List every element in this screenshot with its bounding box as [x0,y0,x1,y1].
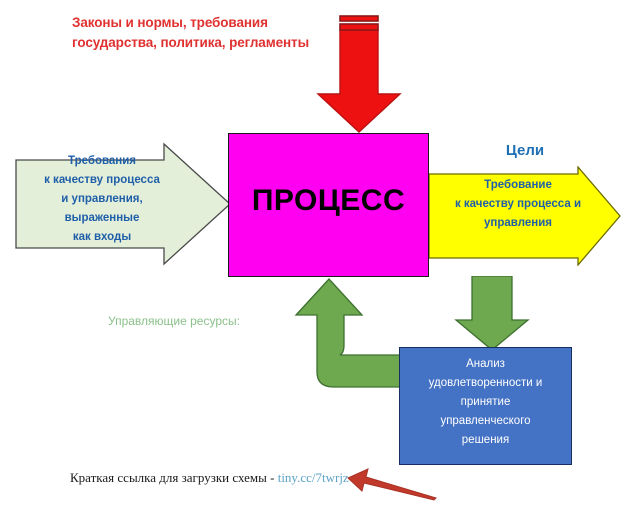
bottom-caption-text: Краткая ссылка для загрузки схемы - [70,470,278,485]
input-arrow-text: Требования к качеству процесса и управле… [22,152,182,247]
arrow-down-icon-green [452,276,532,357]
goals-label: Цели [450,142,600,159]
input-line-5: как входы [22,228,182,247]
analysis-box-text: Анализ удовлетворенности и принятие упра… [399,355,572,450]
arrow-down-icon-red [300,4,420,141]
output-line-1: Требование [434,176,602,195]
output-line-3: управления [434,214,602,233]
resources-label: Управляющие ресурсы: [108,314,240,328]
top-caption: Законы и нормы, требования государства, … [72,13,332,53]
arrow-left-pointer-icon [346,466,438,505]
bottom-caption: Краткая ссылка для загрузки схемы - tiny… [70,470,349,486]
input-line-2: к качеству процесса [22,171,182,190]
top-caption-line-1: Законы и нормы, требования [72,13,332,33]
top-caption-line-2: государства, политика, регламенты [72,33,332,53]
input-line-4: выраженные [22,209,182,228]
output-arrow-text: Требование к качеству процесса и управле… [434,176,602,233]
analysis-line-3: принятие [399,393,572,412]
diagram-canvas: Законы и нормы, требования государства, … [0,0,642,505]
analysis-line-4: управленческого [399,412,572,431]
input-line-3: и управления, [22,190,182,209]
analysis-line-1: Анализ [399,355,572,374]
process-label: ПРОЦЕСС [228,184,429,218]
analysis-line-5: решения [399,431,572,450]
input-line-1: Требования [22,152,182,171]
download-link[interactable]: tiny.cc/7twrjz [278,470,349,485]
analysis-line-2: удовлетворенности и [399,374,572,393]
output-line-2: к качеству процесса и [434,195,602,214]
